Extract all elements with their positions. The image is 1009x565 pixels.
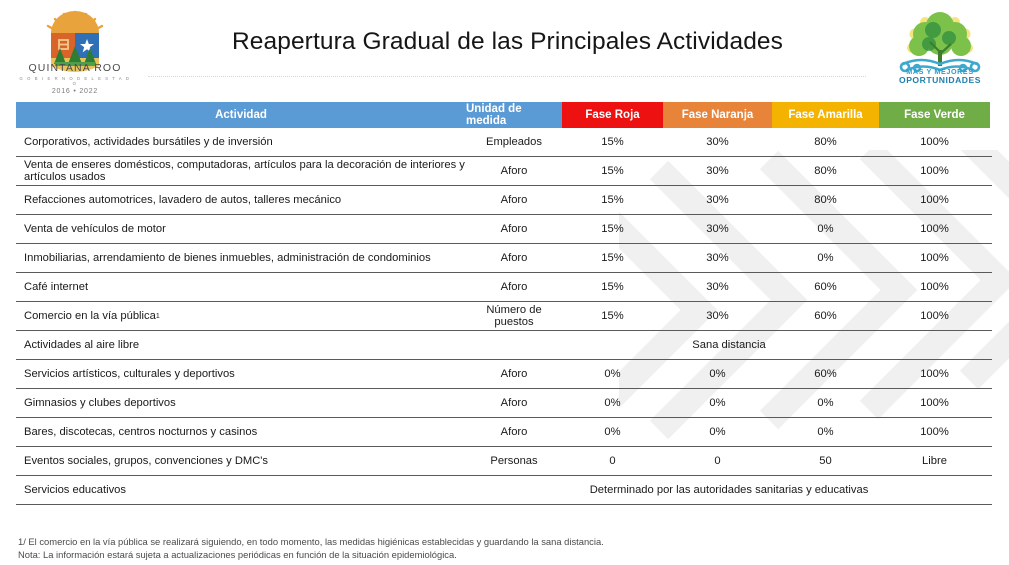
table-row: Bares, discotecas, centros nocturnos y c… — [16, 418, 992, 447]
cell-unidad: Aforo — [466, 418, 562, 446]
cell-fase-naranja: 30% — [663, 186, 772, 214]
cell-actividad: Inmobiliarias, arrendamiento de bienes i… — [16, 244, 466, 272]
cell-actividad: Gimnasios y clubes deportivos — [16, 389, 466, 417]
cell-fase-amarilla: 0% — [772, 244, 879, 272]
cell-actividad: Corporativos, actividades bursátiles y d… — [16, 128, 466, 156]
cell-fase-verde: 100% — [879, 215, 990, 243]
cell-actividad: Bares, discotecas, centros nocturnos y c… — [16, 418, 466, 446]
cell-fase-amarilla: 60% — [772, 273, 879, 301]
title-divider — [148, 76, 866, 77]
cell-actividad: Café internet — [16, 273, 466, 301]
cell-fase-naranja: 30% — [663, 273, 772, 301]
table-row: Corporativos, actividades bursátiles y d… — [16, 128, 992, 157]
cell-unidad: Personas — [466, 447, 562, 475]
table-row: Gimnasios y clubes deportivosAforo0%0%0%… — [16, 389, 992, 418]
cell-fase-roja: 15% — [562, 186, 663, 214]
cell-fase-naranja: 30% — [663, 215, 772, 243]
cell-fase-naranja: 0 — [663, 447, 772, 475]
footnote-line-2: Nota: La información estará sujeta a act… — [18, 549, 998, 562]
crest-years: 2016 • 2022 — [18, 88, 132, 95]
cell-unidad: Aforo — [466, 215, 562, 243]
cell-fase-roja: 15% — [562, 302, 663, 330]
cell-actividad: Refacciones automotrices, lavadero de au… — [16, 186, 466, 214]
cell-fase-roja: 0% — [562, 360, 663, 388]
table-header-row: ActividadUnidad de medidaFase RojaFase N… — [16, 102, 992, 128]
cell-actividad: Actividades al aire libre — [16, 331, 466, 359]
cell-fase-amarilla: 60% — [772, 302, 879, 330]
cell-fase-roja: 0% — [562, 418, 663, 446]
footnote-line-1: 1/ El comercio en la vía pública se real… — [18, 536, 998, 549]
cell-fase-roja: 15% — [562, 157, 663, 185]
table-row: Café internetAforo15%30%60%100% — [16, 273, 992, 302]
column-header-fase-naranja[interactable]: Fase Naranja — [663, 102, 772, 128]
cell-fase-naranja: 30% — [663, 128, 772, 156]
column-header-unidad[interactable]: Unidad de medida — [466, 102, 562, 128]
table-row: Servicios artísticos, culturales y depor… — [16, 360, 992, 389]
cell-fase-verde: Libre — [879, 447, 990, 475]
cell-fase-verde: 100% — [879, 389, 990, 417]
cell-fase-roja: 15% — [562, 128, 663, 156]
program-logo-text: MÁS Y MEJORES OPORTUNIDADES — [880, 68, 1000, 85]
cell-fase-roja: 0% — [562, 389, 663, 417]
slide-header: QUINTANA ROO G O B I E R N O D E L E S T… — [0, 0, 1009, 98]
footnotes: 1/ El comercio en la vía pública se real… — [18, 536, 998, 562]
cell-fase-amarilla: 0% — [772, 418, 879, 446]
cell-merged-note: Sana distancia — [466, 331, 992, 359]
column-header-actividad[interactable]: Actividad — [16, 102, 466, 128]
cell-fase-naranja: 30% — [663, 244, 772, 272]
page-title: Reapertura Gradual de las Principales Ac… — [145, 28, 870, 56]
cell-actividad: Venta de enseres domésticos, computadora… — [16, 157, 466, 185]
cell-fase-amarilla: 80% — [772, 157, 879, 185]
cell-unidad: Aforo — [466, 157, 562, 185]
table-row: Inmobiliarias, arrendamiento de bienes i… — [16, 244, 992, 273]
column-header-fase-amarilla[interactable]: Fase Amarilla — [772, 102, 879, 128]
cell-fase-verde: 100% — [879, 186, 990, 214]
cell-unidad: Número de puestos — [466, 302, 562, 330]
cell-actividad: Eventos sociales, grupos, convenciones y… — [16, 447, 466, 475]
cell-fase-naranja: 0% — [663, 418, 772, 446]
cell-unidad: Empleados — [466, 128, 562, 156]
table-row: Venta de enseres domésticos, computadora… — [16, 157, 992, 186]
cell-fase-verde: 100% — [879, 273, 990, 301]
cell-fase-roja: 0 — [562, 447, 663, 475]
cell-fase-amarilla: 0% — [772, 389, 879, 417]
cell-fase-amarilla: 60% — [772, 360, 879, 388]
crest-state-name: QUINTANA ROO — [18, 62, 132, 74]
table-row: Comercio en la vía pública1Número de pue… — [16, 302, 992, 331]
cell-fase-amarilla: 50 — [772, 447, 879, 475]
table-row: Actividades al aire libreSana distancia — [16, 331, 992, 360]
cell-actividad: Servicios artísticos, culturales y depor… — [16, 360, 466, 388]
cell-fase-verde: 100% — [879, 244, 990, 272]
slide-page: QUINTANA ROO G O B I E R N O D E L E S T… — [0, 0, 1009, 565]
cell-fase-roja: 15% — [562, 273, 663, 301]
table-row: Eventos sociales, grupos, convenciones y… — [16, 447, 992, 476]
cell-fase-verde: 100% — [879, 157, 990, 185]
cell-fase-verde: 100% — [879, 418, 990, 446]
cell-unidad: Aforo — [466, 389, 562, 417]
crest-subtitle: G O B I E R N O D E L E S T A D O — [18, 76, 132, 86]
cell-fase-roja: 15% — [562, 215, 663, 243]
cell-unidad: Aforo — [466, 360, 562, 388]
cell-fase-naranja: 0% — [663, 389, 772, 417]
activities-table: ActividadUnidad de medidaFase RojaFase N… — [16, 102, 992, 505]
cell-fase-naranja: 0% — [663, 360, 772, 388]
cell-unidad: Aforo — [466, 244, 562, 272]
column-header-fase-verde[interactable]: Fase Verde — [879, 102, 990, 128]
cell-actividad: Venta de vehículos de motor — [16, 215, 466, 243]
cell-fase-verde: 100% — [879, 360, 990, 388]
cell-fase-amarilla: 80% — [772, 128, 879, 156]
table-row: Servicios educativosDeterminado por las … — [16, 476, 992, 505]
cell-fase-verde: 100% — [879, 128, 990, 156]
cell-fase-amarilla: 0% — [772, 215, 879, 243]
program-logo-line2: OPORTUNIDADES — [880, 76, 1000, 85]
cell-unidad: Aforo — [466, 273, 562, 301]
column-header-fase-roja[interactable]: Fase Roja — [562, 102, 663, 128]
cell-actividad: Comercio en la vía pública1 — [16, 302, 466, 330]
cell-merged-note: Determinado por las autoridades sanitari… — [466, 476, 992, 504]
table-row: Venta de vehículos de motorAforo15%30%0%… — [16, 215, 992, 244]
cell-fase-roja: 15% — [562, 244, 663, 272]
cell-actividad: Servicios educativos — [16, 476, 466, 504]
cell-fase-verde: 100% — [879, 302, 990, 330]
crest-label-block: QUINTANA ROO G O B I E R N O D E L E S T… — [18, 62, 132, 95]
table-body: Corporativos, actividades bursátiles y d… — [16, 128, 992, 505]
cell-unidad: Aforo — [466, 186, 562, 214]
cell-fase-naranja: 30% — [663, 302, 772, 330]
cell-fase-naranja: 30% — [663, 157, 772, 185]
footnote-marker: 1 — [156, 313, 160, 320]
table-row: Refacciones automotrices, lavadero de au… — [16, 186, 992, 215]
cell-fase-amarilla: 80% — [772, 186, 879, 214]
